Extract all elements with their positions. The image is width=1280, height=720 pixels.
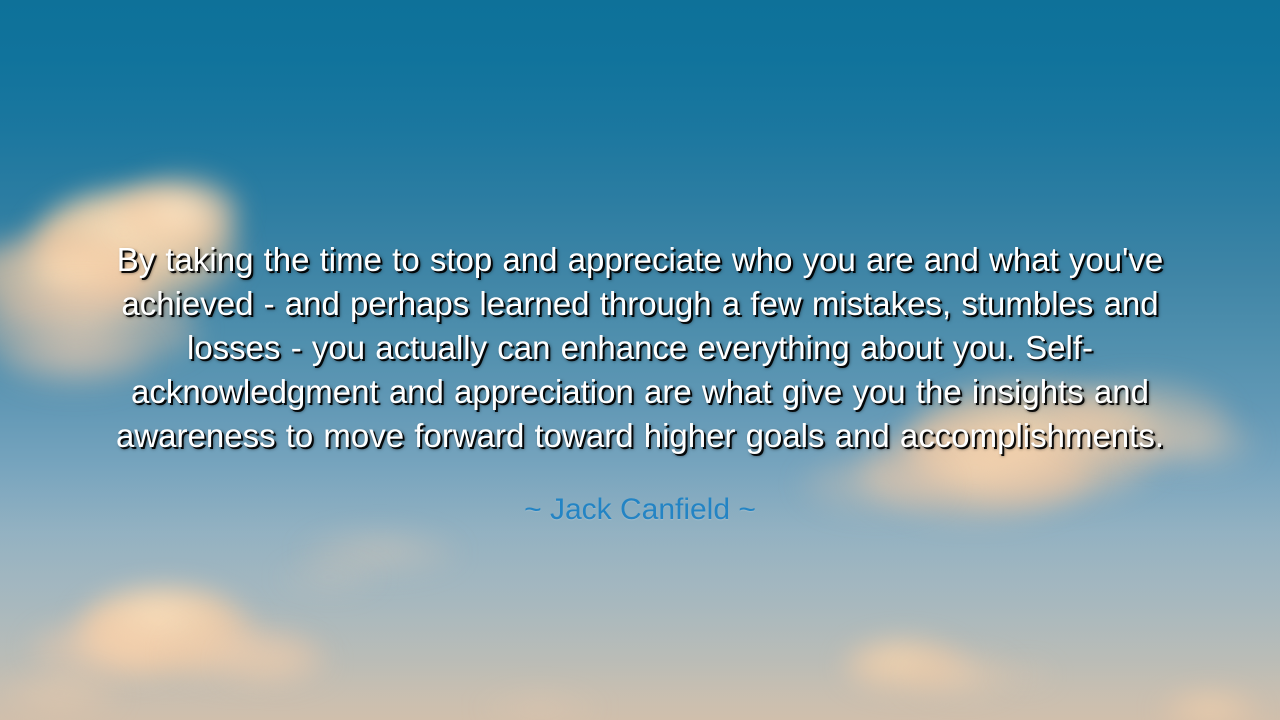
quote-attribution: ~ Jack Canfield ~ [110, 491, 1170, 529]
cloud-center-haze-lower [270, 560, 390, 598]
cloud-bottom-left-tail [222, 640, 332, 685]
cloud-bottom-center-haze [470, 690, 610, 720]
cloud-upper-left-top [120, 176, 240, 246]
quote-card-scene: By taking the time to stop and appreciat… [0, 0, 1280, 720]
quote-text: By taking the time to stop and appreciat… [110, 238, 1170, 458]
quote-block: By taking the time to stop and appreciat… [110, 238, 1170, 529]
cloud-bottom-right [845, 640, 965, 692]
cloud-bottom-right-corner [1160, 692, 1260, 720]
cloud-bottom-right-lobe [905, 655, 1015, 697]
cloud-bottom-left-corner [0, 672, 120, 718]
cloud-bottom-center-wisp [990, 662, 1060, 688]
cloud-bottom-left [78, 588, 253, 676]
cloud-bottom-left-lobe [30, 620, 180, 680]
cloud-center-haze [300, 530, 460, 576]
cloud-bottom-left-right-lobe [170, 625, 320, 683]
